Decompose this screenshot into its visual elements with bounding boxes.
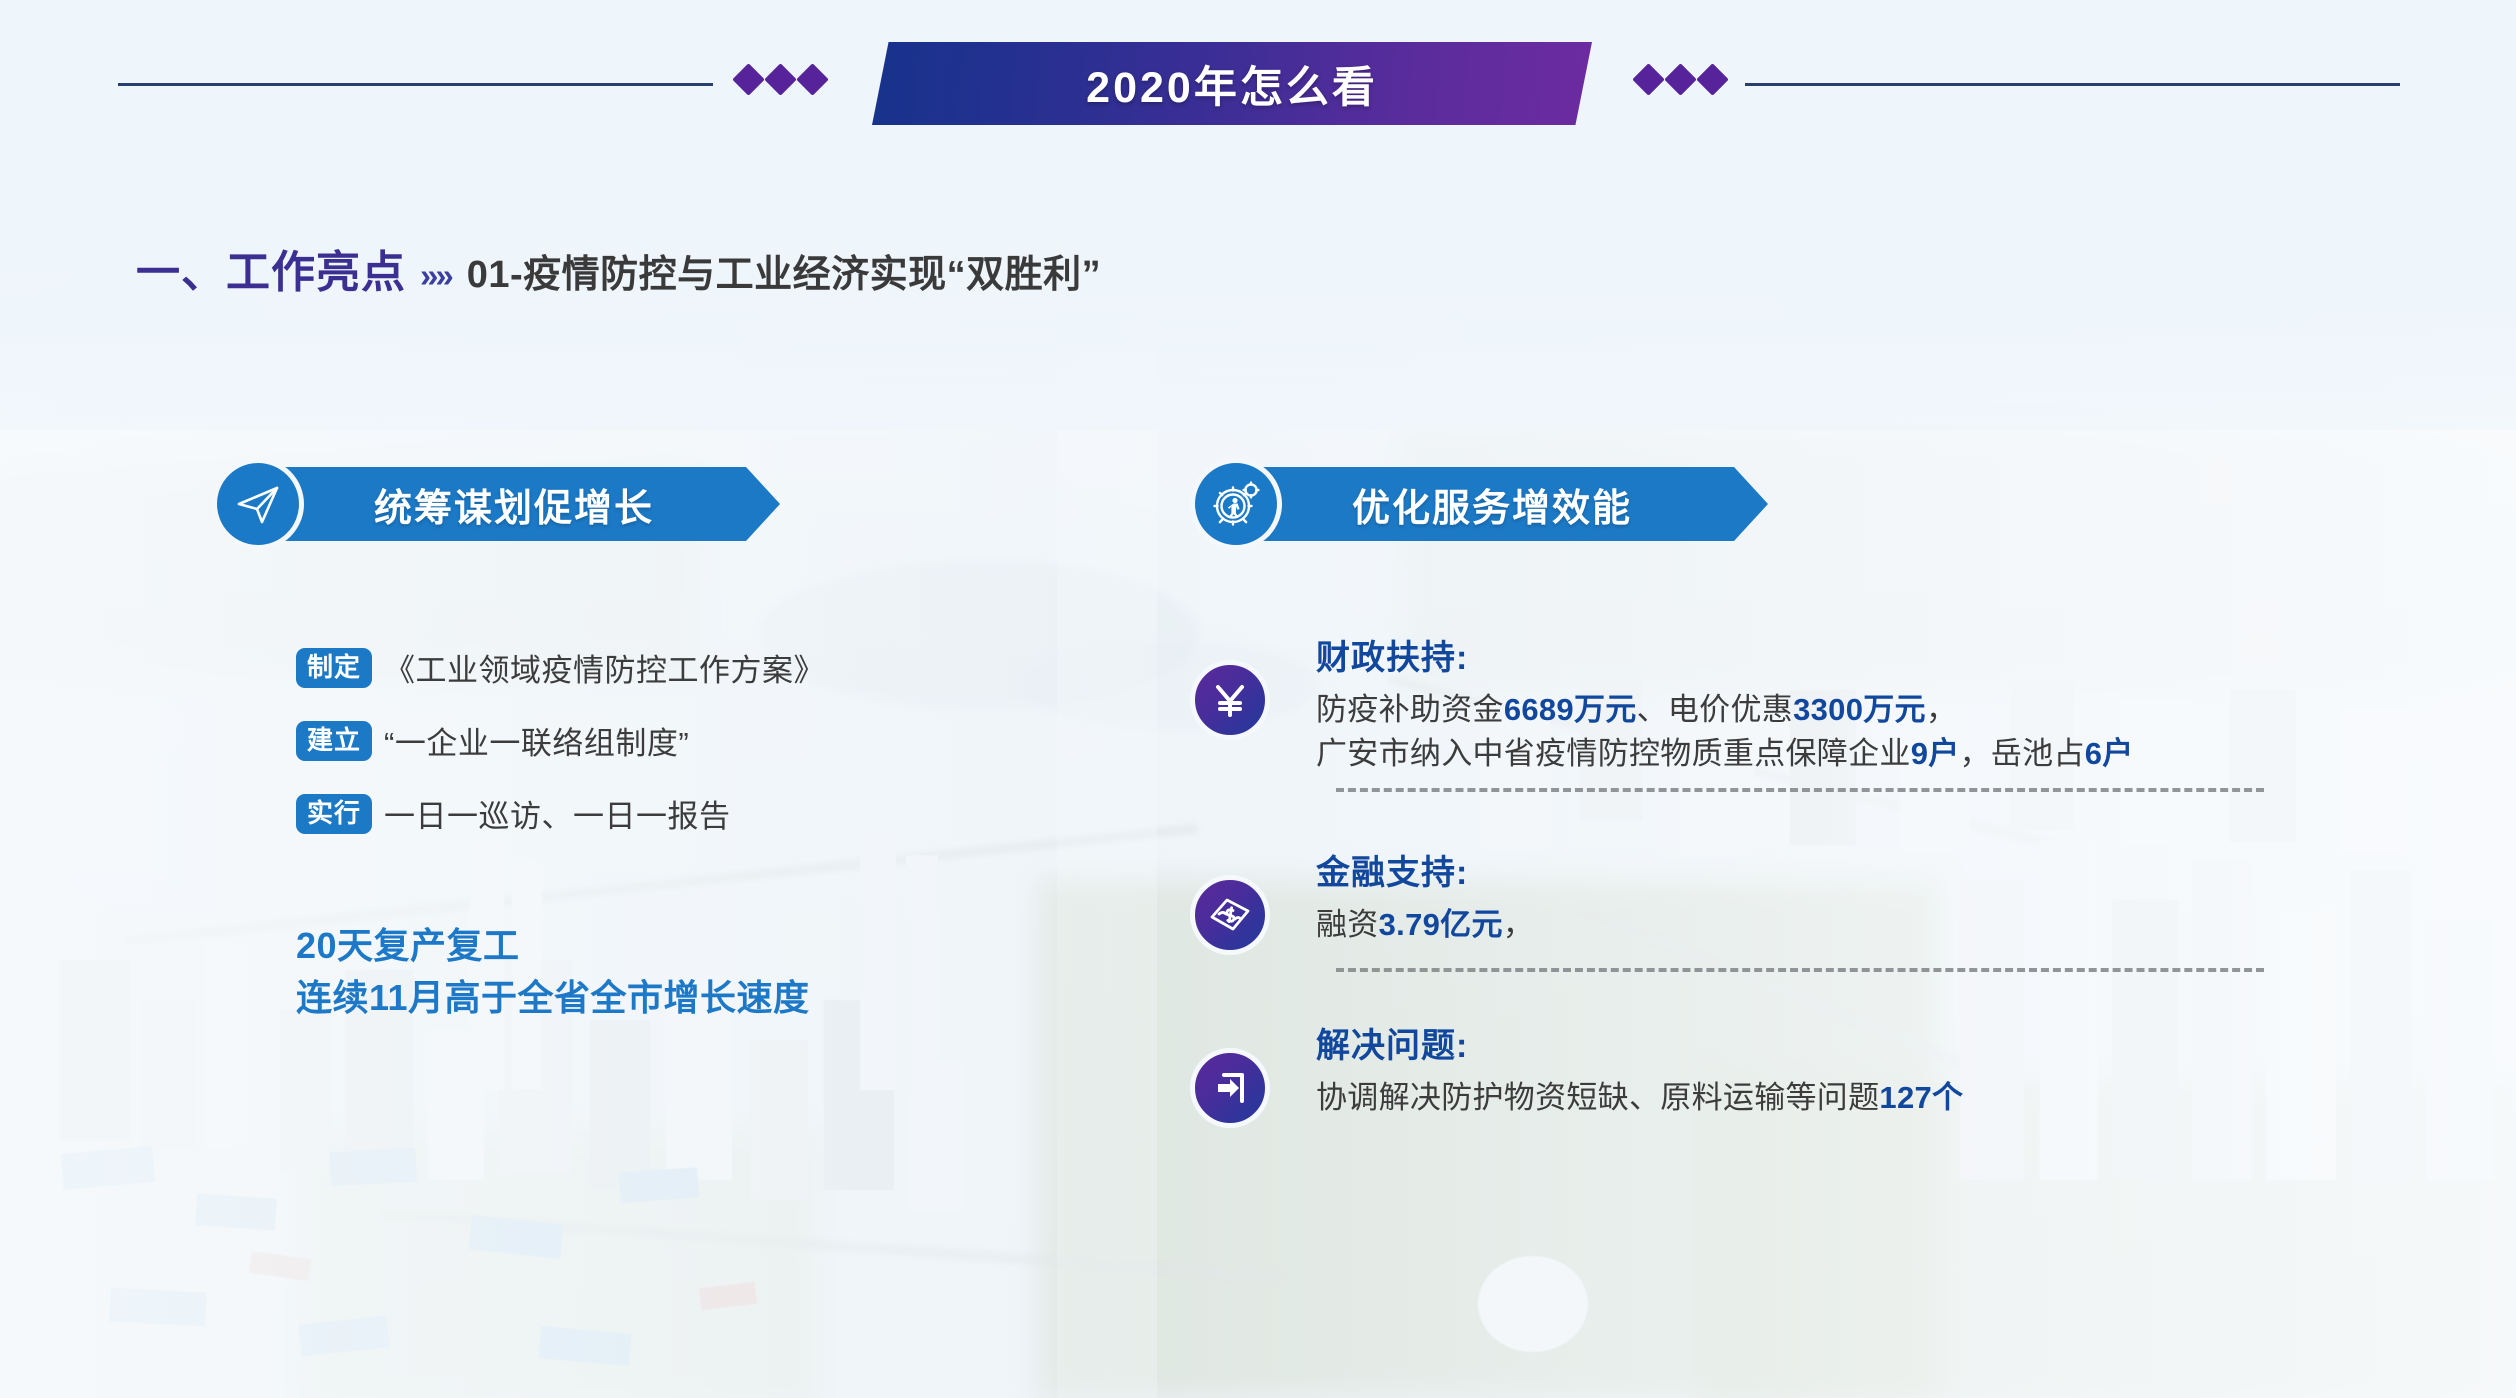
info-block-body: 金融支持: 融资3.79亿元， (1316, 845, 1534, 955)
list-item-tag: 建立 (296, 721, 372, 761)
gear-worker-icon (1190, 458, 1282, 550)
section-heading: 一、工作亮点 »» 01-疫情防控与工业经济实现“双胜利” (136, 236, 1101, 300)
metric-value: 6户 (2085, 736, 2134, 771)
metric-value: 3300万元 (1793, 692, 1926, 727)
highlight-line-2: 连续11月高于全省全市增长速度 (296, 972, 810, 1024)
section-title-label: 01-疫情防控与工业经济实现“双胜利” (467, 243, 1101, 298)
info-block-title: 金融支持: (1316, 845, 1534, 894)
info-block-line: 协调解决防护物资短缺、原料运输等问题127个 (1316, 1076, 1963, 1120)
list-item-tag: 实行 (296, 794, 372, 834)
list-item: 制定 《工业领域疫情防控工作方案》 (296, 645, 825, 690)
text-run: 广安市纳入中省疫情防控物质重点保障企业 (1316, 736, 1911, 771)
info-block-problem-solving: 解决问题: 协调解决防护物资短缺、原料运输等问题127个 (1190, 1018, 1963, 1128)
text-run: ， (1926, 692, 1957, 727)
text-run: 防疫补助资金 (1316, 692, 1504, 727)
diamond-icon (732, 63, 765, 96)
info-block-line: 融资3.79亿元， (1316, 903, 1534, 947)
info-block-finance-support: 财政扶持: 防疫补助资金6689万元、电价优惠3300万元， 广安市纳入中省疫情… (1190, 630, 2134, 776)
header-rule-left (118, 83, 713, 86)
list-item-label: 一日一巡访、一日一报告 (384, 791, 731, 836)
header-rule-right (1745, 83, 2400, 86)
slide-root: 2020年怎么看 一、工作亮点 »» 01-疫情防控与工业经济实现“双胜利” 统… (0, 0, 2516, 1398)
slide-header: 2020年怎么看 (0, 0, 2516, 150)
text-run: 、电价优惠 (1637, 692, 1794, 727)
banner-label: 优化服务增效能 (1352, 477, 1632, 532)
list-item-label: 《工业领域疫情防控工作方案》 (384, 645, 825, 690)
metric-value: 9户 (1911, 736, 1960, 771)
banner-bar: 优化服务增效能 (1260, 467, 1768, 541)
text-run: ，岳池占 (1960, 736, 2085, 771)
title-banner-label: 2020年怎么看 (1086, 53, 1378, 115)
metric-value: 127个 (1879, 1080, 1963, 1115)
metric-value: 6689万元 (1504, 692, 1637, 727)
metric-value: 3.79亿元 (1379, 907, 1503, 942)
info-block-title: 解决问题: (1316, 1018, 1963, 1067)
chevron-right-icon: »» (420, 257, 451, 295)
left-column-list: 制定 《工业领域疫情防控工作方案》 建立 “一企业一联络组制度” 实行 一日一巡… (296, 645, 825, 864)
left-column-highlight: 20天复产复工 连续11月高于全省全市增长速度 (296, 920, 810, 1024)
list-item-tag: 制定 (296, 648, 372, 688)
exit-arrow-icon (1190, 1048, 1270, 1128)
banknote-icon (1190, 875, 1270, 955)
text-run: 融资 (1316, 907, 1379, 942)
info-block-title: 财政扶持: (1316, 630, 2134, 679)
info-block-financial-support: 金融支持: 融资3.79亿元， (1190, 845, 1534, 955)
info-block-body: 解决问题: 协调解决防护物资短缺、原料运输等问题127个 (1316, 1018, 1963, 1128)
section-divider (1336, 788, 2264, 792)
diamond-group-right (1637, 68, 1724, 91)
list-item: 实行 一日一巡访、一日一报告 (296, 791, 825, 836)
banner-bar: 统筹谋划促增长 (282, 467, 780, 541)
text-run: ， (1503, 907, 1534, 942)
info-block-body: 财政扶持: 防疫补助资金6689万元、电价优惠3300万元， 广安市纳入中省疫情… (1316, 630, 2134, 776)
diamond-icon (1696, 63, 1729, 96)
diamond-icon (1664, 63, 1697, 96)
title-banner: 2020年怎么看 (872, 42, 1592, 125)
list-item-label: “一企业一联络组制度” (384, 718, 689, 763)
info-block-line: 广安市纳入中省疫情防控物质重点保障企业9户，岳池占6户 (1316, 732, 2134, 776)
section-divider (1336, 968, 2264, 972)
text-run: 协调解决防护物资短缺、原料运输等问题 (1316, 1080, 1879, 1115)
list-item: 建立 “一企业一联络组制度” (296, 718, 825, 763)
yen-currency-icon (1190, 660, 1270, 740)
highlight-line-1: 20天复产复工 (296, 920, 810, 972)
paper-plane-icon (212, 458, 304, 550)
banner-label: 统筹谋划促增长 (374, 477, 654, 532)
diamond-icon (764, 63, 797, 96)
section-index-label: 一、工作亮点 (136, 236, 406, 300)
diamond-icon (796, 63, 829, 96)
diamond-icon (1632, 63, 1665, 96)
info-block-line: 防疫补助资金6689万元、电价优惠3300万元， (1316, 688, 2134, 732)
diamond-group-left (737, 68, 824, 91)
